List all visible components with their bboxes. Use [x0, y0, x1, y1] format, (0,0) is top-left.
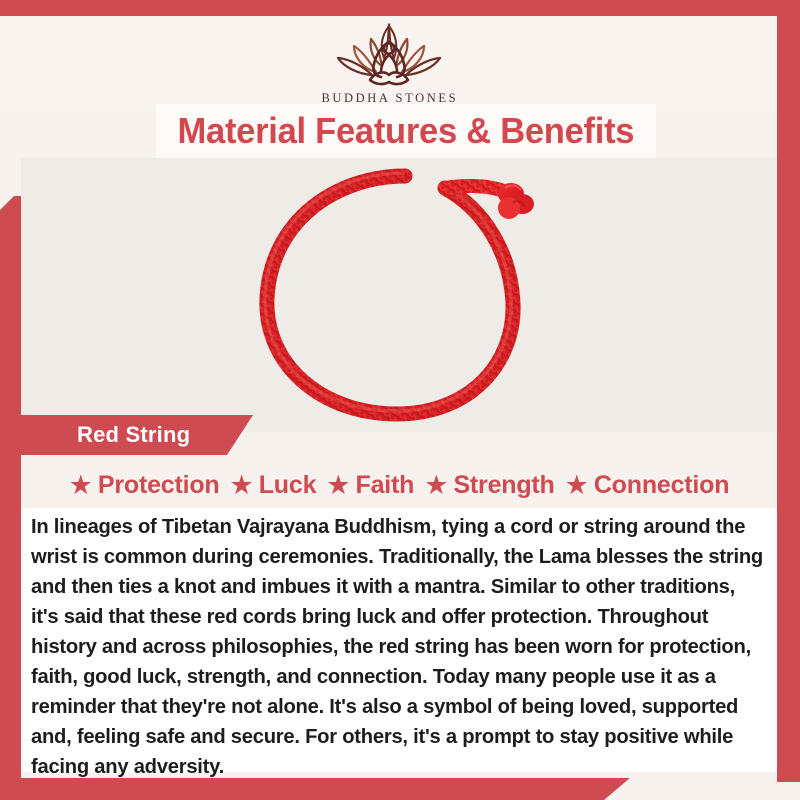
top-accent-bar [0, 0, 800, 16]
brand-header: BUDDHA STONES [0, 16, 777, 110]
left-accent-bar [0, 196, 21, 782]
description-text: In lineages of Tibetan Vajrayana Buddhis… [21, 508, 777, 782]
brand-logo: BUDDHA STONES [274, 18, 504, 106]
benefit-item-luck: ★ Luck [230, 471, 317, 500]
benefit-item-connection: ★ Connection [565, 471, 730, 500]
right-accent-bar [777, 0, 800, 782]
description-panel: In lineages of Tibetan Vajrayana Buddhis… [21, 508, 777, 772]
star-icon: ★ [424, 472, 448, 499]
star-icon: ★ [565, 472, 589, 499]
material-ribbon: Red String [21, 415, 253, 455]
benefit-item-strength: ★ Strength [424, 471, 554, 500]
page-title: Material Features & Benefits [178, 110, 635, 152]
star-icon: ★ [326, 472, 350, 499]
benefit-label: Connection [594, 471, 730, 500]
benefit-item-faith: ★ Faith [326, 471, 414, 500]
infographic-page: BUDDHA STONES Material Features & Benefi… [0, 0, 800, 800]
star-icon: ★ [69, 472, 93, 499]
benefit-label: Luck [259, 471, 317, 500]
lotus-meditation-icon [314, 18, 464, 90]
benefit-label: Protection [98, 471, 220, 500]
product-photo-panel [21, 158, 777, 432]
benefit-label: Strength [453, 471, 554, 500]
red-string-bracelet-image [209, 158, 589, 432]
benefits-row: ★ Protection ★ Luck ★ Faith ★ Strength ★… [21, 463, 777, 507]
material-name: Red String [21, 422, 190, 448]
star-icon: ★ [230, 472, 254, 499]
benefit-item-protection: ★ Protection [69, 471, 220, 500]
title-banner: Material Features & Benefits [156, 104, 656, 158]
benefit-label: Faith [356, 471, 415, 500]
